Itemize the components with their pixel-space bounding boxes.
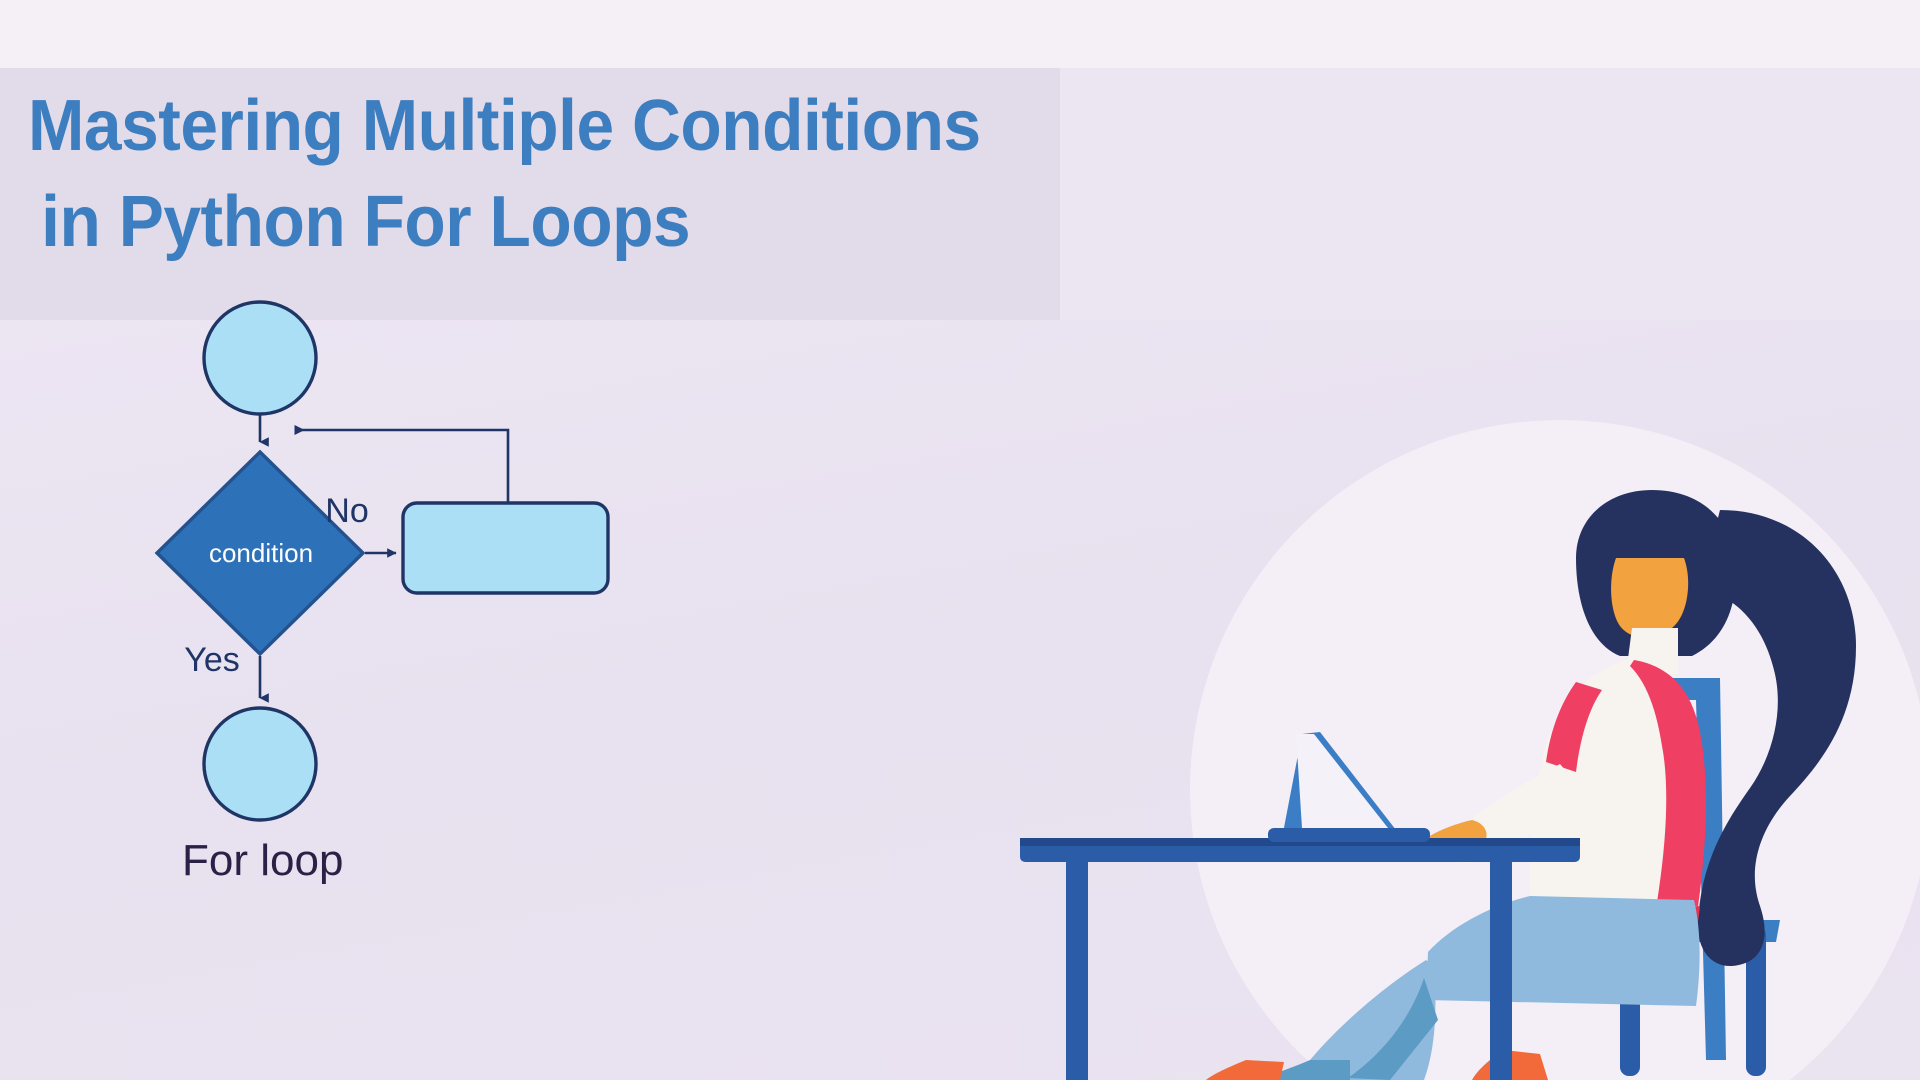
flow-node-start [204,302,316,414]
page-title-line-1: Mastering Multiple Conditions [28,78,1137,174]
flow-edge-label-yes: Yes [184,641,239,679]
flow-node-condition: condition [157,452,363,654]
flow-edge-label-no: No [325,492,368,530]
background-band-top [0,0,1920,68]
flowchart-caption: For loop [182,836,343,885]
page-title: Mastering Multiple Conditions in Python … [28,78,1208,271]
flow-node-condition-label: condition [209,538,313,568]
woman-at-laptop-illustration [1020,360,1920,1080]
page-title-line-2: in Python For Loops [28,174,1137,270]
flow-node-end [204,708,316,820]
for-loop-flowchart: condition No Yes For loop [120,300,740,940]
flow-node-body [403,503,608,593]
